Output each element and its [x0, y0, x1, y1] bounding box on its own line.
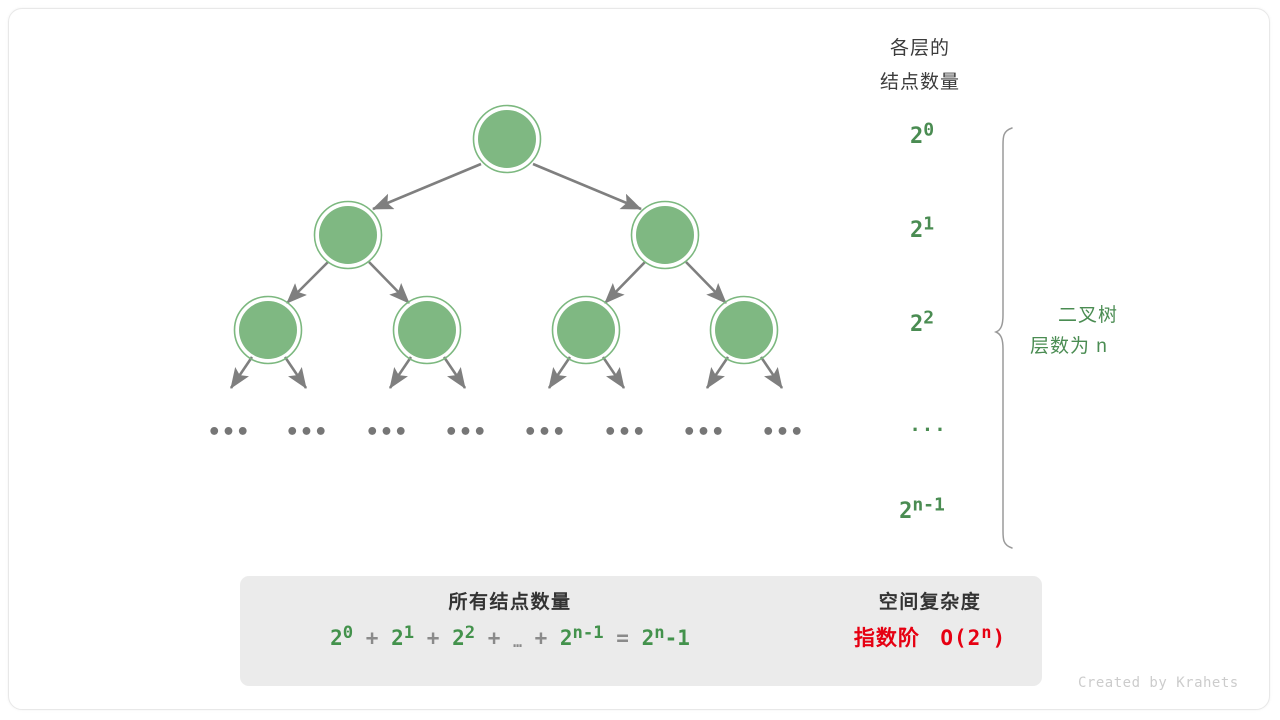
- tree-node-l2-2[interactable]: [553, 297, 620, 364]
- tree-nodes: [235, 106, 778, 364]
- column-header: 各层的 结点数量: [838, 32, 1002, 100]
- formula-plus-2: +: [488, 626, 501, 650]
- level-count-label-1: 21: [862, 218, 982, 243]
- tree-node-l2-3[interactable]: [711, 297, 778, 364]
- formula-term-ellipsis: …: [513, 634, 522, 651]
- level-count-label-0: 20: [862, 124, 982, 149]
- column-header-line1: 各层的: [838, 32, 1002, 66]
- formula-plus-3: +: [535, 626, 548, 650]
- leaf-ellipsis-1: •••: [277, 420, 337, 445]
- leaf-ellipsis-0: •••: [199, 420, 259, 445]
- leaf-ellipsis-7: •••: [753, 420, 813, 445]
- credit-text: Created by Krahets: [1078, 675, 1239, 691]
- tree-edges-level-0-to-1: [373, 164, 641, 209]
- level-count-label-2: 22: [862, 312, 982, 337]
- level-count-label-ellipsis: ...: [868, 414, 988, 436]
- level-count-label-last: 2n-1: [862, 499, 982, 524]
- brace-annotation-line1: 二叉树: [1030, 300, 1210, 331]
- column-header-line2: 结点数量: [838, 66, 1002, 100]
- level-range-brace: [996, 128, 1012, 548]
- formula-result: 2n-1: [642, 626, 690, 650]
- complexity-value: 指数阶 O(2n): [830, 618, 1030, 659]
- diagram-canvas: 各层的 结点数量 20 21 22 ... 2n-1 二叉树 层数为 n •••…: [0, 0, 1280, 720]
- tree-node-l2-0[interactable]: [235, 297, 302, 364]
- formula-term-last: 2n-1: [560, 626, 604, 650]
- formula-term-1: 21: [391, 626, 414, 650]
- tree-edges-level-2-to-leaves: [231, 357, 782, 388]
- formula-term-0: 20: [330, 626, 353, 650]
- leaf-ellipsis-2: •••: [357, 420, 417, 445]
- brace-annotation-line2: 层数为 n: [1030, 331, 1210, 362]
- complexity-bigo: O(2n): [927, 626, 1006, 650]
- summary-left: 所有结点数量 20 + 21 + 22 + … + 2n-1 = 2n-1: [270, 588, 750, 663]
- leaf-ellipsis-5: •••: [595, 420, 655, 445]
- summary-right-title: 空间复杂度: [830, 588, 1030, 618]
- leaf-ellipsis-3: •••: [436, 420, 496, 445]
- formula-plus-0: +: [366, 626, 379, 650]
- formula-term-2: 22: [452, 626, 475, 650]
- tree-node-l1-0[interactable]: [315, 202, 382, 269]
- summary-left-title: 所有结点数量: [270, 588, 750, 618]
- formula-plus-1: +: [427, 626, 440, 650]
- leaf-ellipsis-6: •••: [674, 420, 734, 445]
- complexity-prefix: 指数阶: [854, 627, 920, 650]
- brace-annotation: 二叉树 层数为 n: [1030, 300, 1210, 362]
- summary-formula: 20 + 21 + 22 + … + 2n-1 = 2n-1: [270, 618, 750, 663]
- tree-node-l2-1[interactable]: [394, 297, 461, 364]
- tree-node-l1-1[interactable]: [632, 202, 699, 269]
- formula-equals: =: [616, 626, 629, 650]
- summary-right: 空间复杂度 指数阶 O(2n): [830, 588, 1030, 659]
- tree-node-root[interactable]: [474, 106, 541, 173]
- leaf-ellipsis-4: •••: [515, 420, 575, 445]
